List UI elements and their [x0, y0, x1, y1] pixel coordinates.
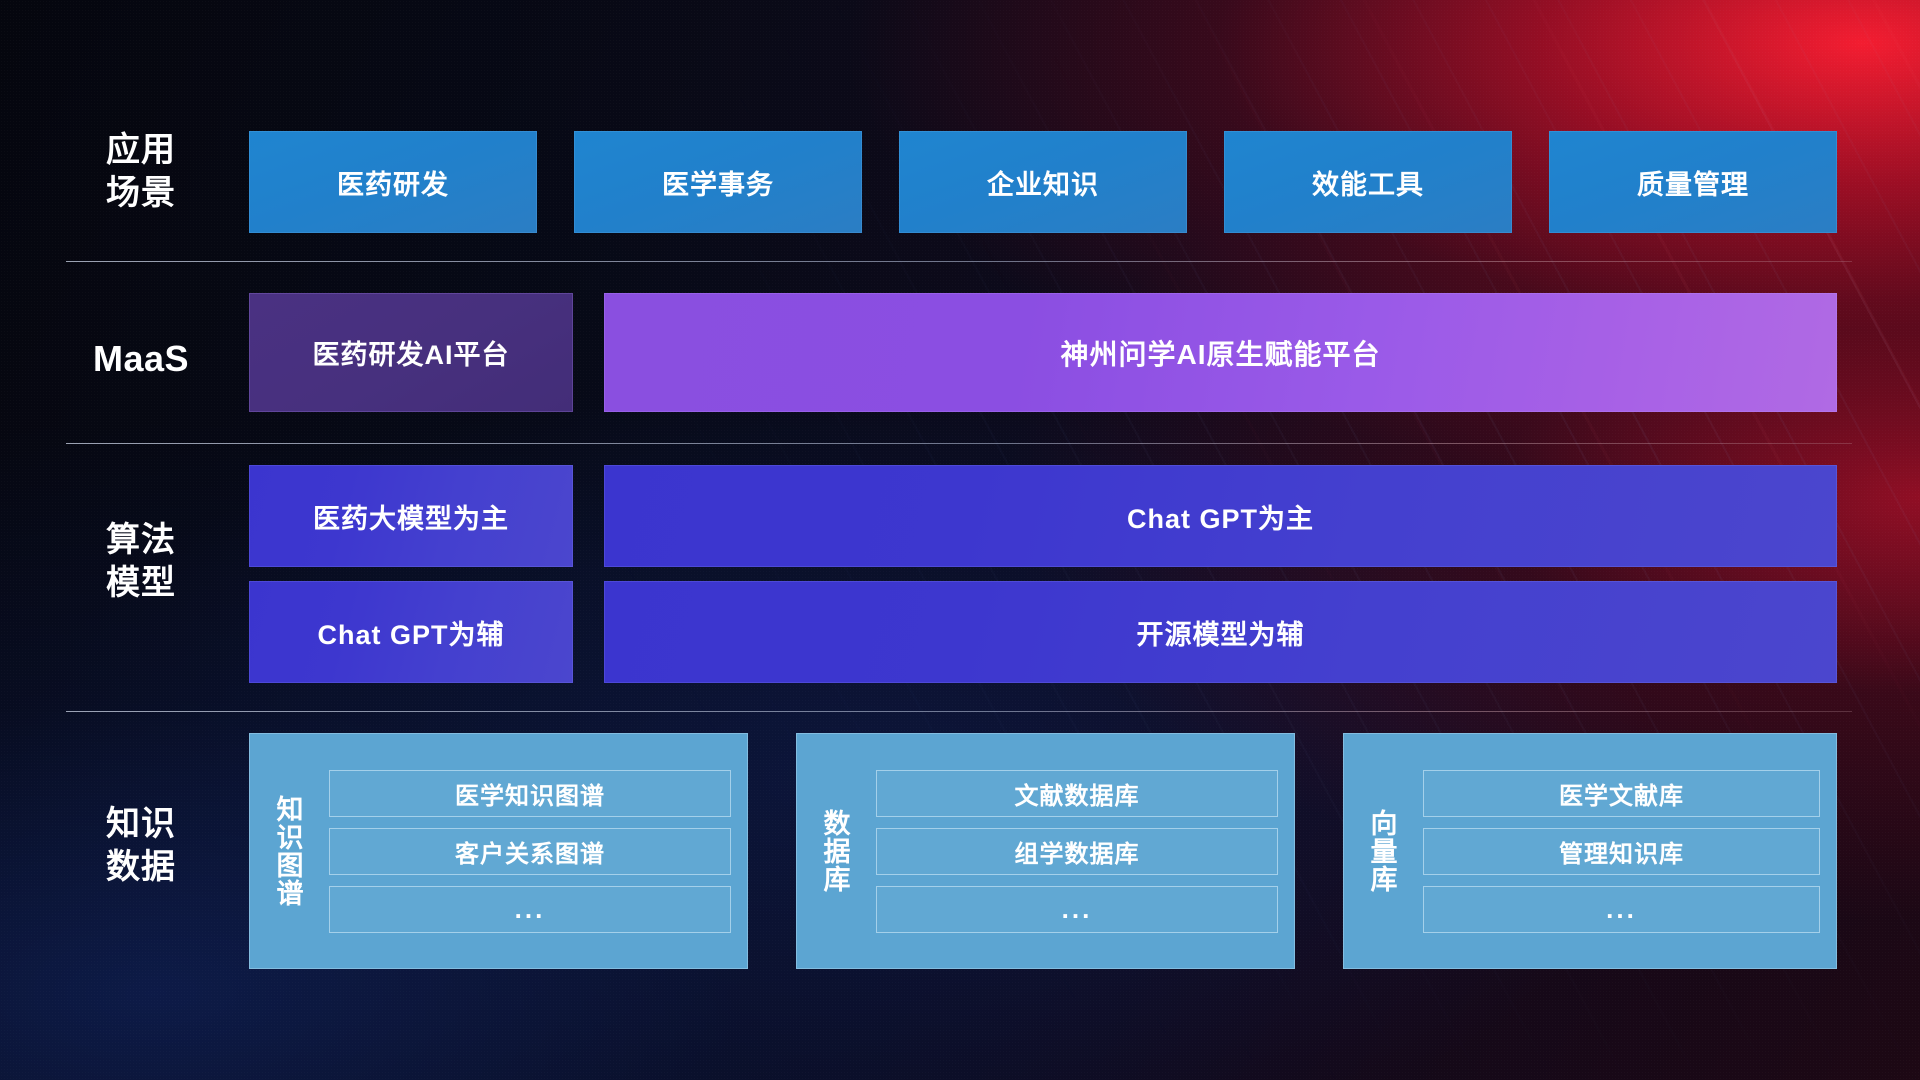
knowledge-item-ellipsis[interactable]: ... [1423, 886, 1820, 933]
knowledge-panel-items: 医学文献库 管理知识库 ... [1419, 733, 1837, 969]
scenario-box-label: 医药研发 [337, 163, 449, 202]
algo-box-label: Chat GPT为主 [1127, 497, 1314, 536]
knowledge-item[interactable]: 管理知识库 [1423, 828, 1820, 875]
row-label-knowledge-data: 知识 数据 [66, 803, 216, 889]
row-label-line-1: 算法 [66, 519, 216, 562]
knowledge-item[interactable]: 医学知识图谱 [329, 770, 731, 817]
scenario-box-label: 效能工具 [1312, 163, 1424, 202]
maas-box-medicine-rd-ai-platform[interactable]: 医药研发AI平台 [249, 293, 573, 412]
algo-box-chatgpt-primary[interactable]: Chat GPT为主 [604, 465, 1837, 567]
scenario-box-enterprise-knowledge[interactable]: 企业知识 [899, 131, 1187, 233]
row-label-application-scenarios: 应用 场景 [66, 129, 216, 215]
row-label-line-2: 数据 [66, 846, 216, 889]
divider-after-algorithm-models [66, 711, 1852, 712]
knowledge-panel-database[interactable]: 数据库 文献数据库 组学数据库 ... [796, 733, 1295, 969]
maas-box-shenzhou-wenxue-platform[interactable]: 神州问学AI原生赋能平台 [604, 293, 1837, 412]
scenario-box-medicine-rd[interactable]: 医药研发 [249, 131, 537, 233]
algo-box-label: Chat GPT为辅 [317, 613, 504, 652]
knowledge-panel-vertical-label: 向量库 [1343, 733, 1419, 969]
scenario-box-efficiency-tools[interactable]: 效能工具 [1224, 131, 1512, 233]
knowledge-panel-knowledge-graph[interactable]: 知识图谱 医学知识图谱 客户关系图谱 ... [249, 733, 748, 969]
algo-box-opensource-model-auxiliary[interactable]: 开源模型为辅 [604, 581, 1837, 683]
architecture-diagram: 应用 场景 医药研发 医学事务 企业知识 效能工具 质量管理 MaaS 医药研发… [0, 0, 1920, 1080]
maas-box-label: 神州问学AI原生赋能平台 [1060, 333, 1380, 373]
row-label-line-1: 知识 [66, 803, 216, 846]
scenario-box-label: 医学事务 [662, 163, 774, 202]
knowledge-item[interactable]: 文献数据库 [876, 770, 1278, 817]
row-label-text: MaaS [66, 337, 216, 380]
divider-after-application-scenarios [66, 261, 1852, 262]
algo-box-medicine-large-model-primary[interactable]: 医药大模型为主 [249, 465, 573, 567]
knowledge-item-ellipsis[interactable]: ... [329, 886, 731, 933]
knowledge-item[interactable]: 医学文献库 [1423, 770, 1820, 817]
knowledge-panel-vertical-label: 知识图谱 [249, 733, 325, 969]
knowledge-panel-vertical-label: 数据库 [796, 733, 872, 969]
divider-after-maas [66, 443, 1852, 444]
scenario-box-label: 质量管理 [1637, 163, 1749, 202]
knowledge-panel-items: 医学知识图谱 客户关系图谱 ... [325, 733, 748, 969]
knowledge-item[interactable]: 客户关系图谱 [329, 828, 731, 875]
scenario-box-quality-management[interactable]: 质量管理 [1549, 131, 1837, 233]
knowledge-item[interactable]: 组学数据库 [876, 828, 1278, 875]
row-label-maas: MaaS [66, 337, 216, 380]
row-label-line-2: 模型 [66, 562, 216, 605]
algo-box-label: 开源模型为辅 [1137, 613, 1305, 652]
maas-box-label: 医药研发AI平台 [313, 333, 510, 372]
algo-box-label: 医药大模型为主 [313, 497, 509, 536]
row-label-line-1: 应用 [66, 129, 216, 172]
row-label-algorithm-models: 算法 模型 [66, 519, 216, 605]
algo-box-chatgpt-auxiliary[interactable]: Chat GPT为辅 [249, 581, 573, 683]
scenario-box-label: 企业知识 [987, 163, 1099, 202]
knowledge-item-ellipsis[interactable]: ... [876, 886, 1278, 933]
row-label-line-2: 场景 [66, 172, 216, 215]
scenario-box-medical-affairs[interactable]: 医学事务 [574, 131, 862, 233]
knowledge-panel-items: 文献数据库 组学数据库 ... [872, 733, 1295, 969]
knowledge-panel-vector-store[interactable]: 向量库 医学文献库 管理知识库 ... [1343, 733, 1837, 969]
